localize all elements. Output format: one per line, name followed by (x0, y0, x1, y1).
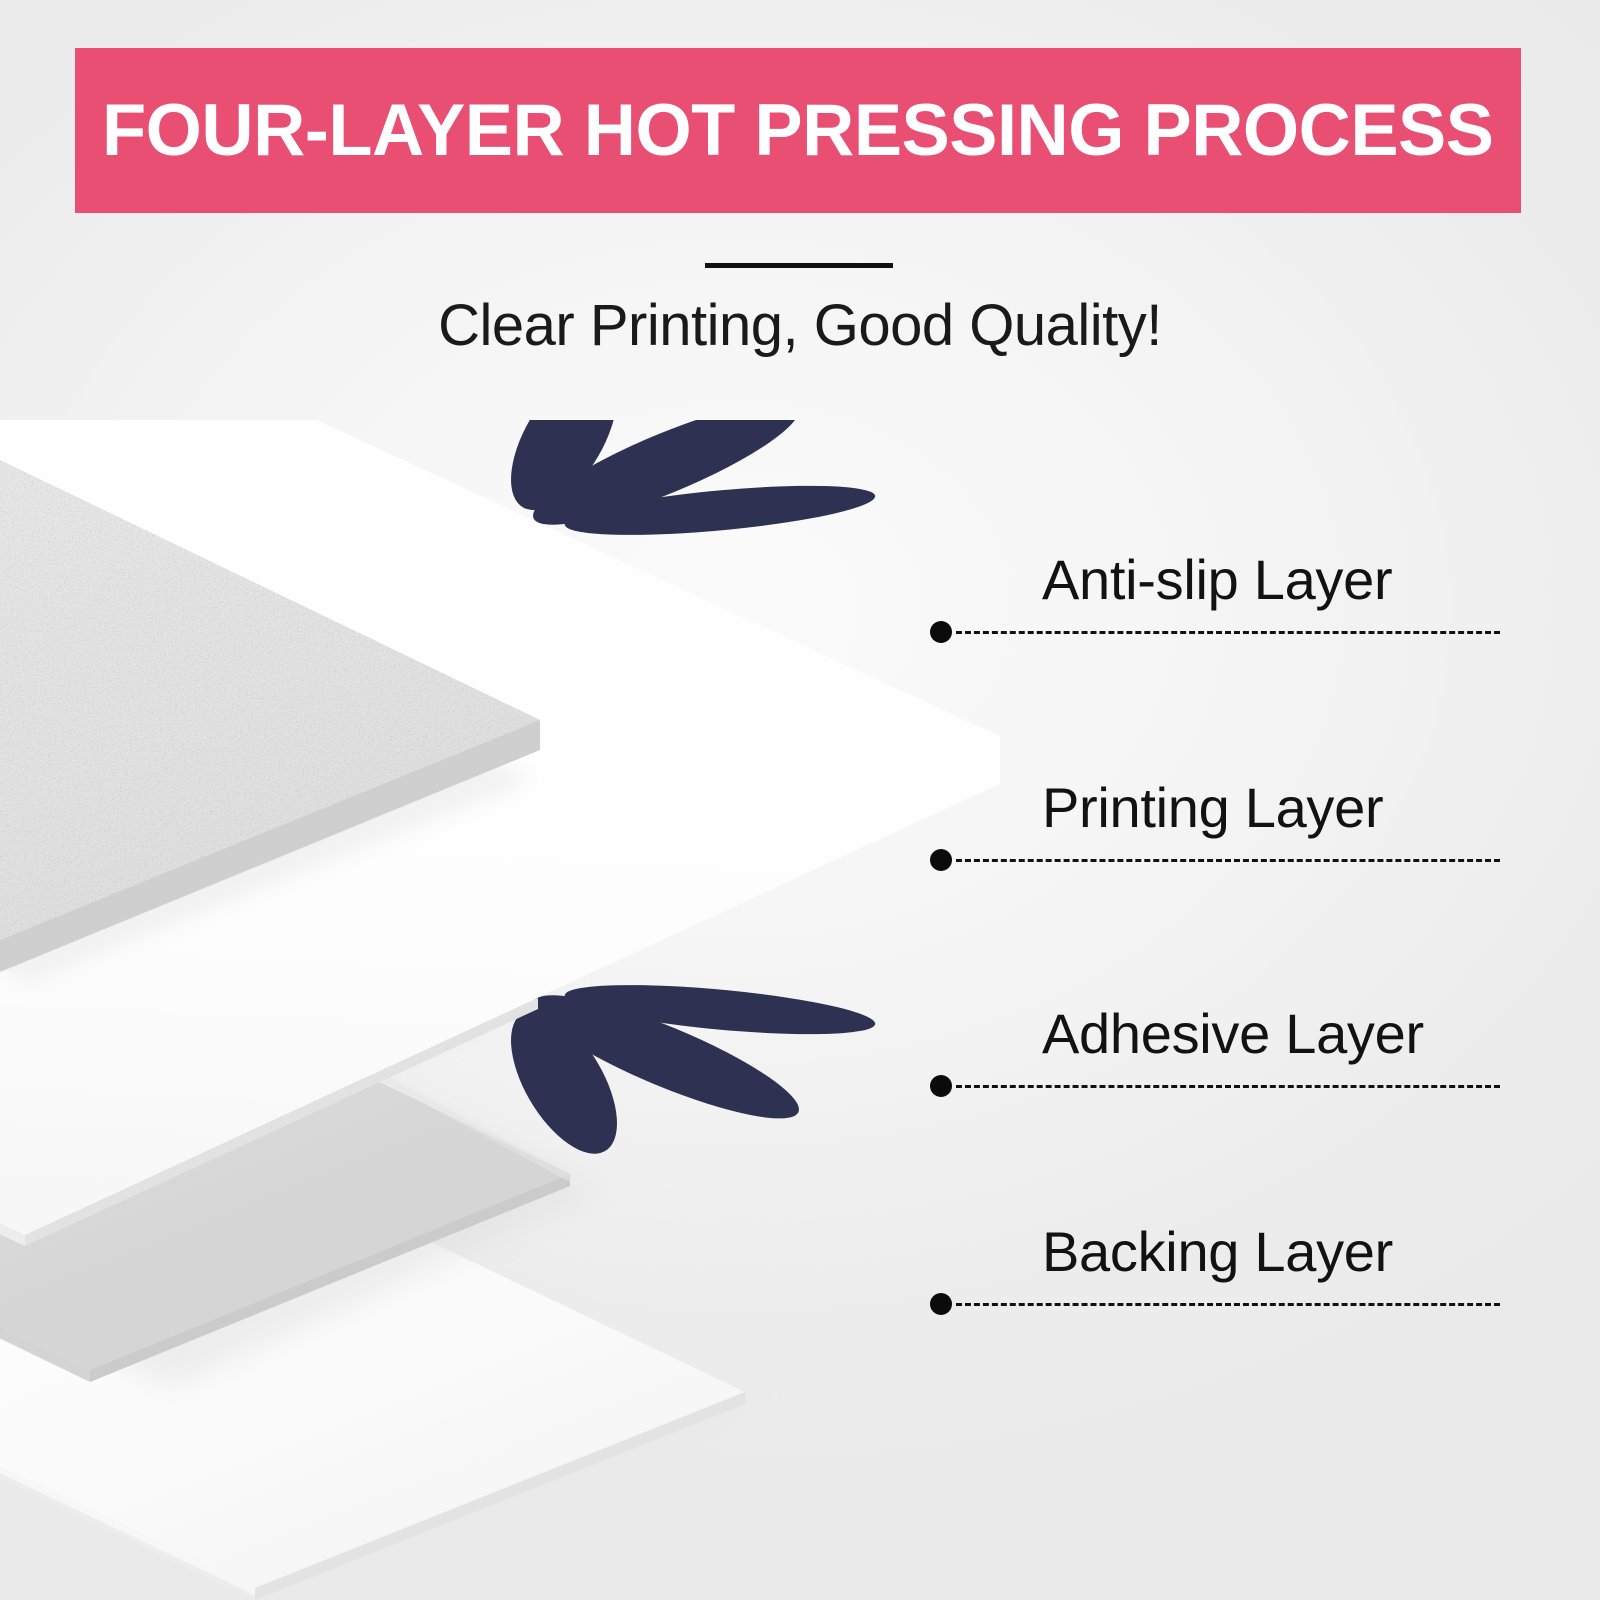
callout-label: Adhesive Layer (1042, 1001, 1424, 1066)
subtitle-text: Clear Printing, Good Quality! (0, 292, 1600, 359)
layer-stack-illustration (0, 420, 1000, 1600)
leader-line (956, 631, 1500, 634)
leader-line (956, 859, 1500, 862)
infographic-canvas: FOUR-LAYER HOT PRESSING PROCESS Clear Pr… (0, 0, 1600, 1600)
leader-line (956, 1085, 1500, 1088)
leader-dot-icon (930, 1293, 952, 1315)
title-banner: FOUR-LAYER HOT PRESSING PROCESS (75, 48, 1521, 213)
leader-dot-icon (930, 1075, 952, 1097)
callout-label: Backing Layer (1042, 1219, 1393, 1284)
callout-label: Anti-slip Layer (1042, 547, 1392, 612)
page-title: FOUR-LAYER HOT PRESSING PROCESS (102, 89, 1493, 172)
leader-line (956, 1303, 1500, 1306)
leader-dot-icon (930, 849, 952, 871)
leader-dot-icon (930, 621, 952, 643)
callout-label: Printing Layer (1042, 775, 1383, 840)
subtitle-divider (705, 263, 893, 268)
